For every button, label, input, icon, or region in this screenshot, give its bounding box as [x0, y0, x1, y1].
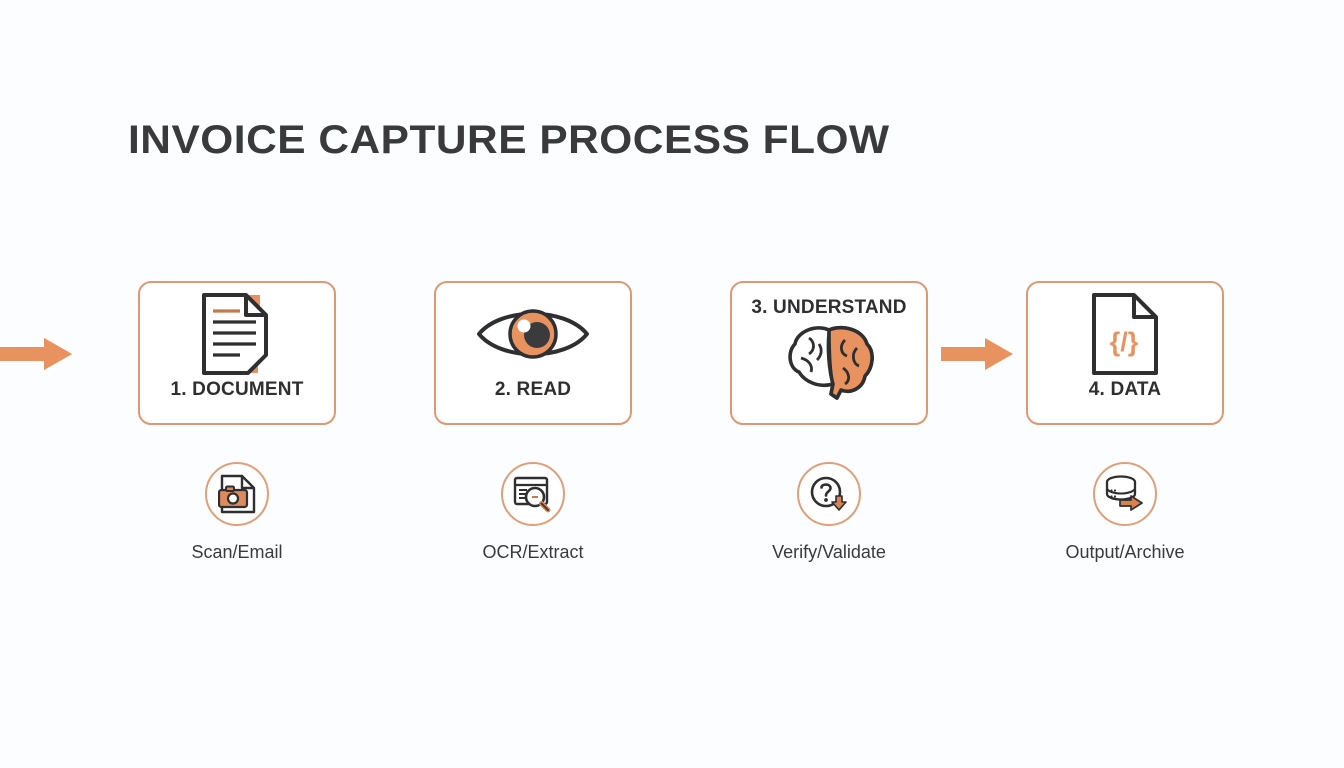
- stage-label: 1. DOCUMENT: [170, 379, 303, 401]
- stage-card-understand[interactable]: 3. UNDERSTAND: [730, 281, 928, 425]
- stage-card-document[interactable]: 1. DOCUMENT: [138, 281, 336, 425]
- process-stage-row: 1. DOCUMENT 2. READ 3. UNDERSTAND: [138, 281, 1228, 427]
- question-arrow-icon: [797, 462, 861, 526]
- document-lines-icon: [198, 293, 276, 375]
- code-document-icon: {/}: [1090, 293, 1160, 375]
- database-arrow-icon: [1093, 462, 1157, 526]
- page-title: INVOICE CAPTURE PROCESS FLOW: [128, 118, 890, 163]
- eye-icon: [475, 293, 591, 375]
- stage-label: 4. DATA: [1089, 379, 1161, 401]
- stage-card-data[interactable]: {/} 4. DATA: [1026, 281, 1224, 425]
- stage-card-read[interactable]: 2. READ: [434, 281, 632, 425]
- substep-output-archive[interactable]: Output/Archive: [1026, 462, 1224, 563]
- document-magnifier-icon: [501, 462, 565, 526]
- substep-caption: Output/Archive: [1065, 542, 1184, 563]
- substep-caption: Verify/Validate: [772, 542, 886, 563]
- substep-verify-validate[interactable]: Verify/Validate: [730, 462, 928, 563]
- document-camera-icon: [205, 462, 269, 526]
- arrow-right-icon: [0, 338, 72, 370]
- substep-row: Scan/Email OCR/Extract: [138, 462, 1228, 572]
- substep-caption: OCR/Extract: [482, 542, 583, 563]
- svg-text:{/}: {/}: [1110, 327, 1139, 357]
- substep-scan-email[interactable]: Scan/Email: [138, 462, 336, 563]
- brain-icon: [783, 321, 875, 401]
- substep-caption: Scan/Email: [191, 542, 282, 563]
- stage-label: 3. UNDERSTAND: [751, 297, 906, 319]
- stage-label: 2. READ: [495, 379, 571, 401]
- arrow-right-icon: [941, 338, 1013, 370]
- substep-ocr-extract[interactable]: OCR/Extract: [434, 462, 632, 563]
